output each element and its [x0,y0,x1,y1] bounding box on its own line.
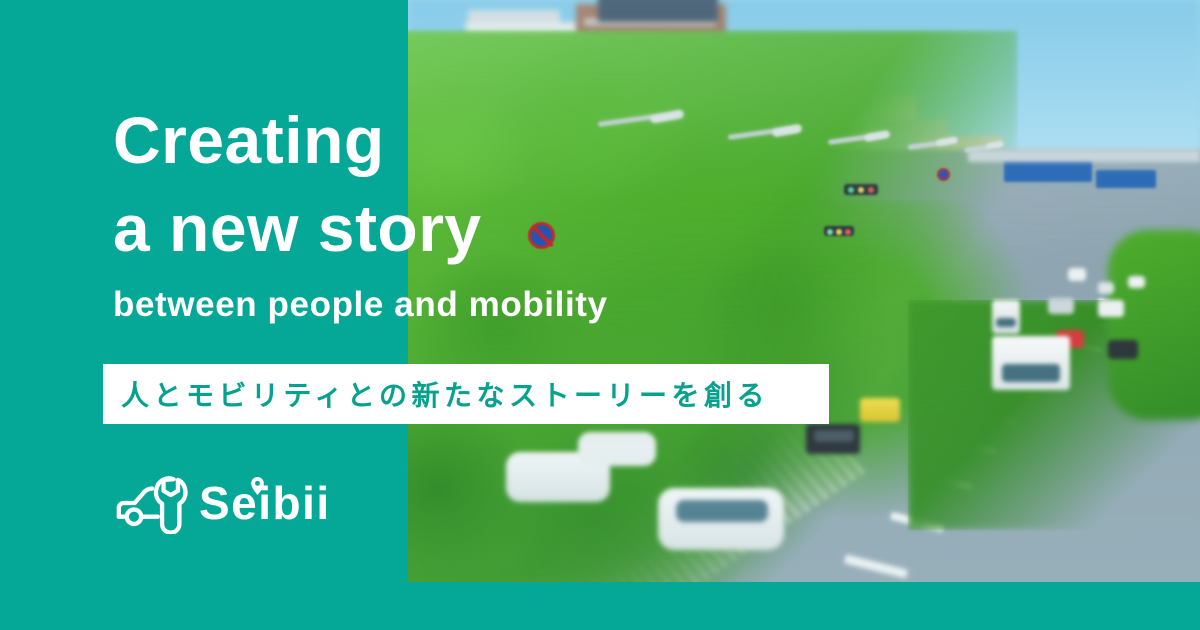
hero-banner: Creatinga new story between people and m… [0,0,1200,630]
headline-line-2: a new story [113,191,482,265]
location-pin-dot-icon [251,477,264,495]
brand-name-text: Seibii [199,477,331,529]
japanese-tagline-banner: 人とモビリティとの新たなストーリーを創る [103,364,829,424]
page-title: Creatinga new story [113,96,482,272]
hero-copy: Creatinga new story between people and m… [0,0,1200,630]
japanese-tagline: 人とモビリティとの新たなストーリーを創る [103,374,769,414]
car-wrench-icon [113,472,191,534]
brand-wordmark: Seibii [199,480,331,526]
page-subtitle: between people and mobility [113,285,608,325]
brand-logo[interactable]: Seibii [113,472,331,534]
headline-line-1: Creating [113,103,385,177]
